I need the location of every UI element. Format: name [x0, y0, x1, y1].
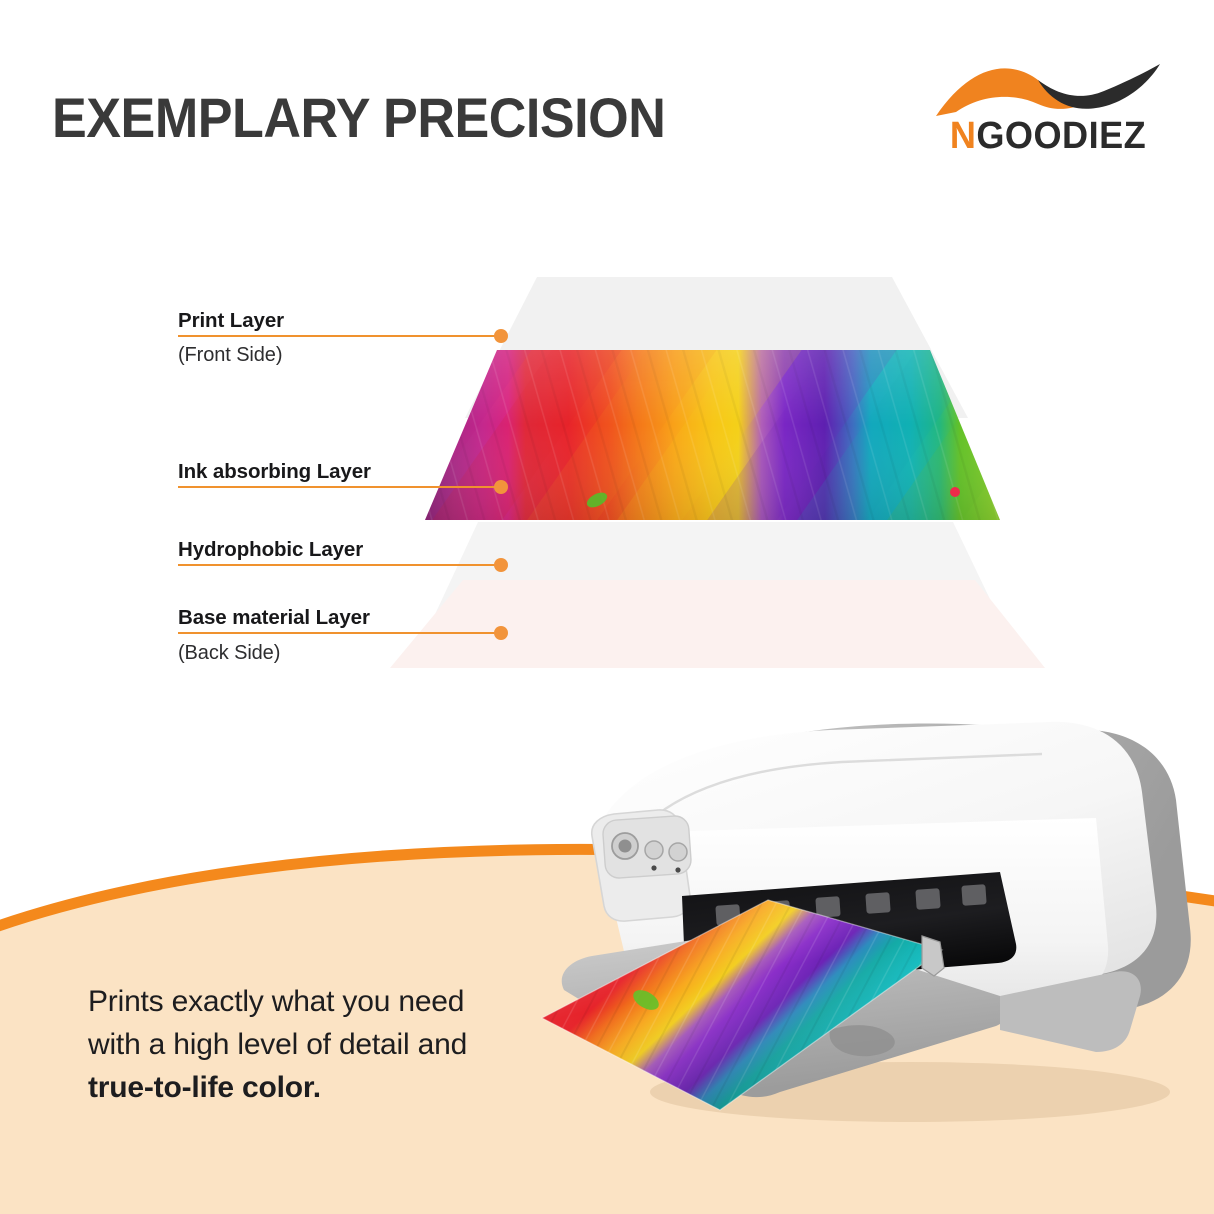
promo-line-3: true-to-life color.	[88, 1066, 558, 1109]
menu-button-1[interactable]	[645, 841, 663, 859]
label-print-layer-sub: (Front Side)	[178, 342, 282, 368]
label-hydrophobic-layer: Hydrophobic Layer	[178, 537, 363, 563]
header: EXEMPLARY PRECISION NGOODIEZ	[0, 0, 1214, 200]
status-led-2	[675, 867, 680, 872]
printer-graphic	[530, 700, 1214, 1160]
printer-illustration	[530, 700, 1214, 1160]
label-base-material-layer-sub: (Back Side)	[178, 640, 280, 666]
leader-dot-hydrophobic	[494, 558, 508, 572]
menu-button-2[interactable]	[669, 843, 687, 861]
promo-line-1: Prints exactly what you need	[88, 980, 558, 1023]
label-base-material-layer: Base material Layer	[178, 605, 370, 631]
brand-word-rest: GOODIEZ	[976, 115, 1146, 157]
label-print-layer-sub-wrap: (Front Side)	[178, 342, 282, 368]
infographic-canvas: EXEMPLARY PRECISION NGOODIEZ	[0, 0, 1214, 1214]
label-ink-absorbing-layer-title: Ink absorbing Layer	[178, 459, 371, 485]
leader-dot-base	[494, 626, 508, 640]
layer-shape-base	[390, 580, 1045, 668]
promo-text: Prints exactly what you need with a high…	[88, 980, 558, 1109]
leader-dot-ink	[494, 480, 508, 494]
label-print-layer: Print Layer	[178, 308, 284, 334]
label-base-material-layer-title: Base material Layer	[178, 605, 370, 631]
brand-wordmark: NGOODIEZ	[940, 114, 1157, 158]
power-button-inner	[619, 840, 632, 853]
label-print-layer-title: Print Layer	[178, 308, 284, 334]
status-led-1	[651, 865, 656, 870]
label-ink-absorbing-layer: Ink absorbing Layer	[178, 459, 371, 485]
label-hydrophobic-layer-title: Hydrophobic Layer	[178, 537, 363, 563]
brand-logo: NGOODIEZ	[934, 58, 1162, 170]
brand-swoosh-icon	[934, 58, 1162, 120]
promo-line-2: with a high level of detail and	[88, 1023, 558, 1066]
page-title: EXEMPLARY PRECISION	[52, 88, 665, 148]
brand-letter-n: N	[950, 115, 977, 157]
leader-dot-print	[494, 329, 508, 343]
label-base-material-layer-sub-wrap: (Back Side)	[178, 640, 280, 666]
layer-diagram: Print Layer (Front Side) Ink absorbing L…	[0, 250, 1214, 690]
